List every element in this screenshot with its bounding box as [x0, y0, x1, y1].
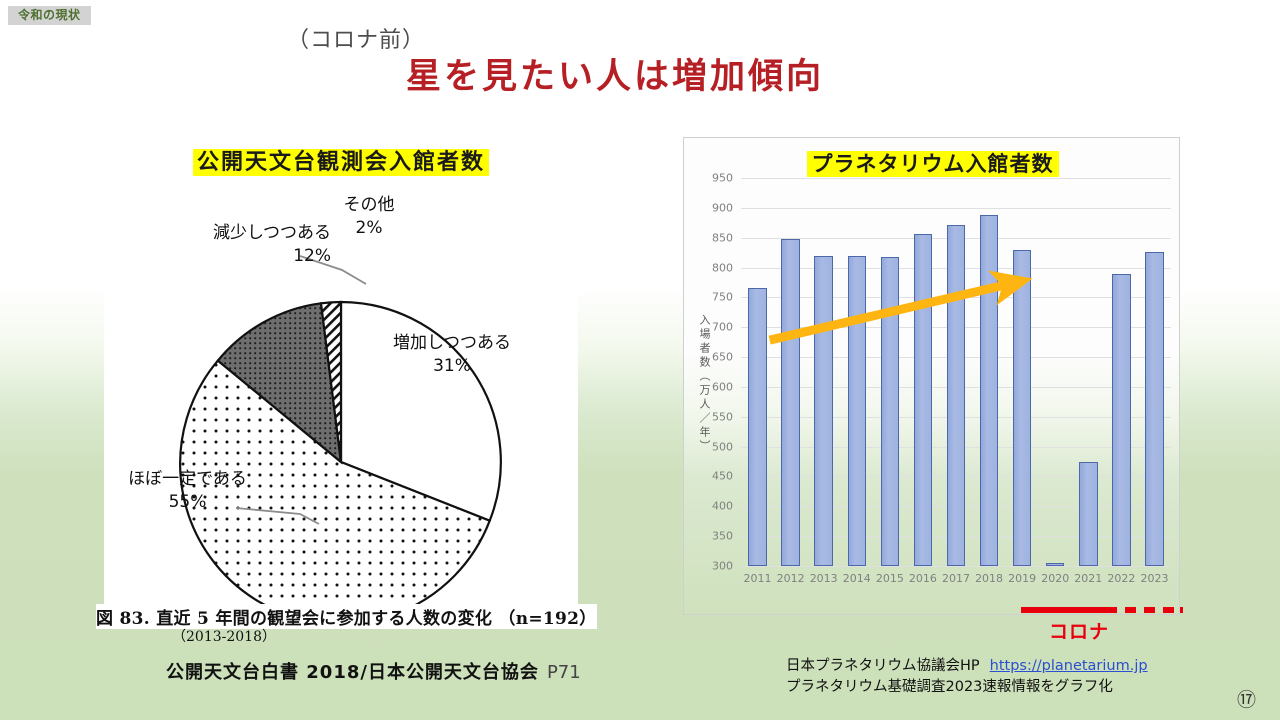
- bar-2012: [781, 239, 800, 566]
- y-axis-tick-label: 750: [712, 291, 733, 304]
- pie-label-other-text: その他: [344, 195, 395, 215]
- y-axis-tick-label: 600: [712, 380, 733, 393]
- x-axis-tick-label: 2023: [1140, 572, 1168, 585]
- pie-label-decrease: 減少しつつある 12%: [156, 222, 331, 268]
- bar-2019: [1013, 250, 1032, 566]
- bar-2016: [914, 234, 933, 566]
- y-axis-title: 入場者数（万人／年）: [694, 314, 712, 454]
- gridline: [741, 566, 1171, 567]
- pie-label-increase-text: 増加しつつある: [393, 333, 511, 353]
- bar-2018: [980, 215, 999, 566]
- bar-2013: [814, 256, 833, 566]
- bar-2023: [1145, 252, 1164, 566]
- bar-2022: [1112, 274, 1131, 566]
- bar-chart-title: プラネタリウム入館者数: [684, 148, 1181, 178]
- y-axis-tick-label: 550: [712, 410, 733, 423]
- pie-label-decrease-value: 12%: [156, 245, 331, 268]
- y-axis-tick-label: 800: [712, 261, 733, 274]
- y-axis-tick-label: 300: [712, 560, 733, 573]
- corona-span-line: [1021, 607, 1183, 613]
- right-source: 日本プラネタリウム協議会HPhttps://planetarium.jp プラネ…: [786, 656, 1148, 698]
- bar-2017: [947, 225, 966, 566]
- x-axis-tick-label: 2017: [942, 572, 970, 585]
- y-axis-tick-label: 500: [712, 440, 733, 453]
- page-title: 星を見たい人は増加傾向: [406, 48, 824, 99]
- bar-2020: [1046, 563, 1065, 566]
- pre-title: （コロナ前）: [287, 22, 425, 54]
- y-axis-tick-label: 850: [712, 231, 733, 244]
- left-source-page: P71: [547, 662, 581, 683]
- x-axis-tick-label: 2021: [1074, 572, 1102, 585]
- pie-label-increase-value: 31%: [372, 355, 532, 378]
- pie-label-increase: 増加しつつある 31%: [372, 332, 532, 378]
- right-source-line2: プラネタリウム基礎調査2023速報情報をグラフ化: [786, 679, 1113, 695]
- bar-chart-title-text: プラネタリウム入館者数: [807, 151, 1059, 177]
- x-axis-tick-label: 2022: [1107, 572, 1135, 585]
- y-axis-tick-label: 400: [712, 500, 733, 513]
- pie-chart-panel: 公開天文台観測会入館者数 そ: [104, 132, 578, 622]
- left-source-text: 公開天文台白書 2018/日本公開天文台協会: [166, 662, 539, 683]
- y-axis-tick-label: 900: [712, 201, 733, 214]
- corona-label: コロナ: [1049, 617, 1109, 644]
- page-number: ⑰: [1237, 685, 1256, 712]
- planetarium-url-link[interactable]: https://planetarium.jp: [990, 658, 1148, 674]
- bar-chart-panel: プラネタリウム入館者数 入場者数（万人／年） 95090085080075070…: [683, 137, 1180, 615]
- x-axis-tick-label: 2019: [1008, 572, 1036, 585]
- left-source: 公開天文台白書 2018/日本公開天文台協会P71: [166, 658, 581, 684]
- y-axis-tick-label: 650: [712, 351, 733, 364]
- y-axis-tick-label: 450: [712, 470, 733, 483]
- right-source-line1: 日本プラネタリウム協議会HP: [786, 658, 980, 674]
- pie-label-decrease-text: 減少しつつある: [213, 223, 331, 243]
- pie-label-flat: ほぼ一定である 55%: [100, 468, 275, 514]
- bar-2011: [748, 288, 767, 566]
- bar-2015: [881, 257, 900, 566]
- x-axis-tick-label: 2012: [777, 572, 805, 585]
- x-axis-tick-label: 2013: [810, 572, 838, 585]
- bar-2014: [848, 256, 867, 566]
- bar-2021: [1079, 462, 1098, 566]
- x-axis-tick-label: 2015: [876, 572, 904, 585]
- x-axis-tick-label: 2018: [975, 572, 1003, 585]
- x-axis-tick-label: 2014: [843, 572, 871, 585]
- gridline: [741, 208, 1171, 209]
- pie-label-flat-text: ほぼ一定である: [128, 469, 247, 489]
- x-axis-tick-label: 2016: [909, 572, 937, 585]
- section-badge: 令和の現状: [8, 6, 91, 25]
- x-axis-tick-label: 2020: [1041, 572, 1069, 585]
- y-axis-tick-label: 350: [712, 530, 733, 543]
- y-axis-tick-label: 700: [712, 321, 733, 334]
- figure-years: （2013-2018）: [172, 626, 276, 646]
- gridline: [741, 178, 1171, 179]
- x-axis-tick-label: 2011: [744, 572, 772, 585]
- bar-chart-plot-area: 9509008508007507006506005505004504003503…: [741, 178, 1171, 566]
- pie-label-flat-value: 55%: [100, 491, 275, 514]
